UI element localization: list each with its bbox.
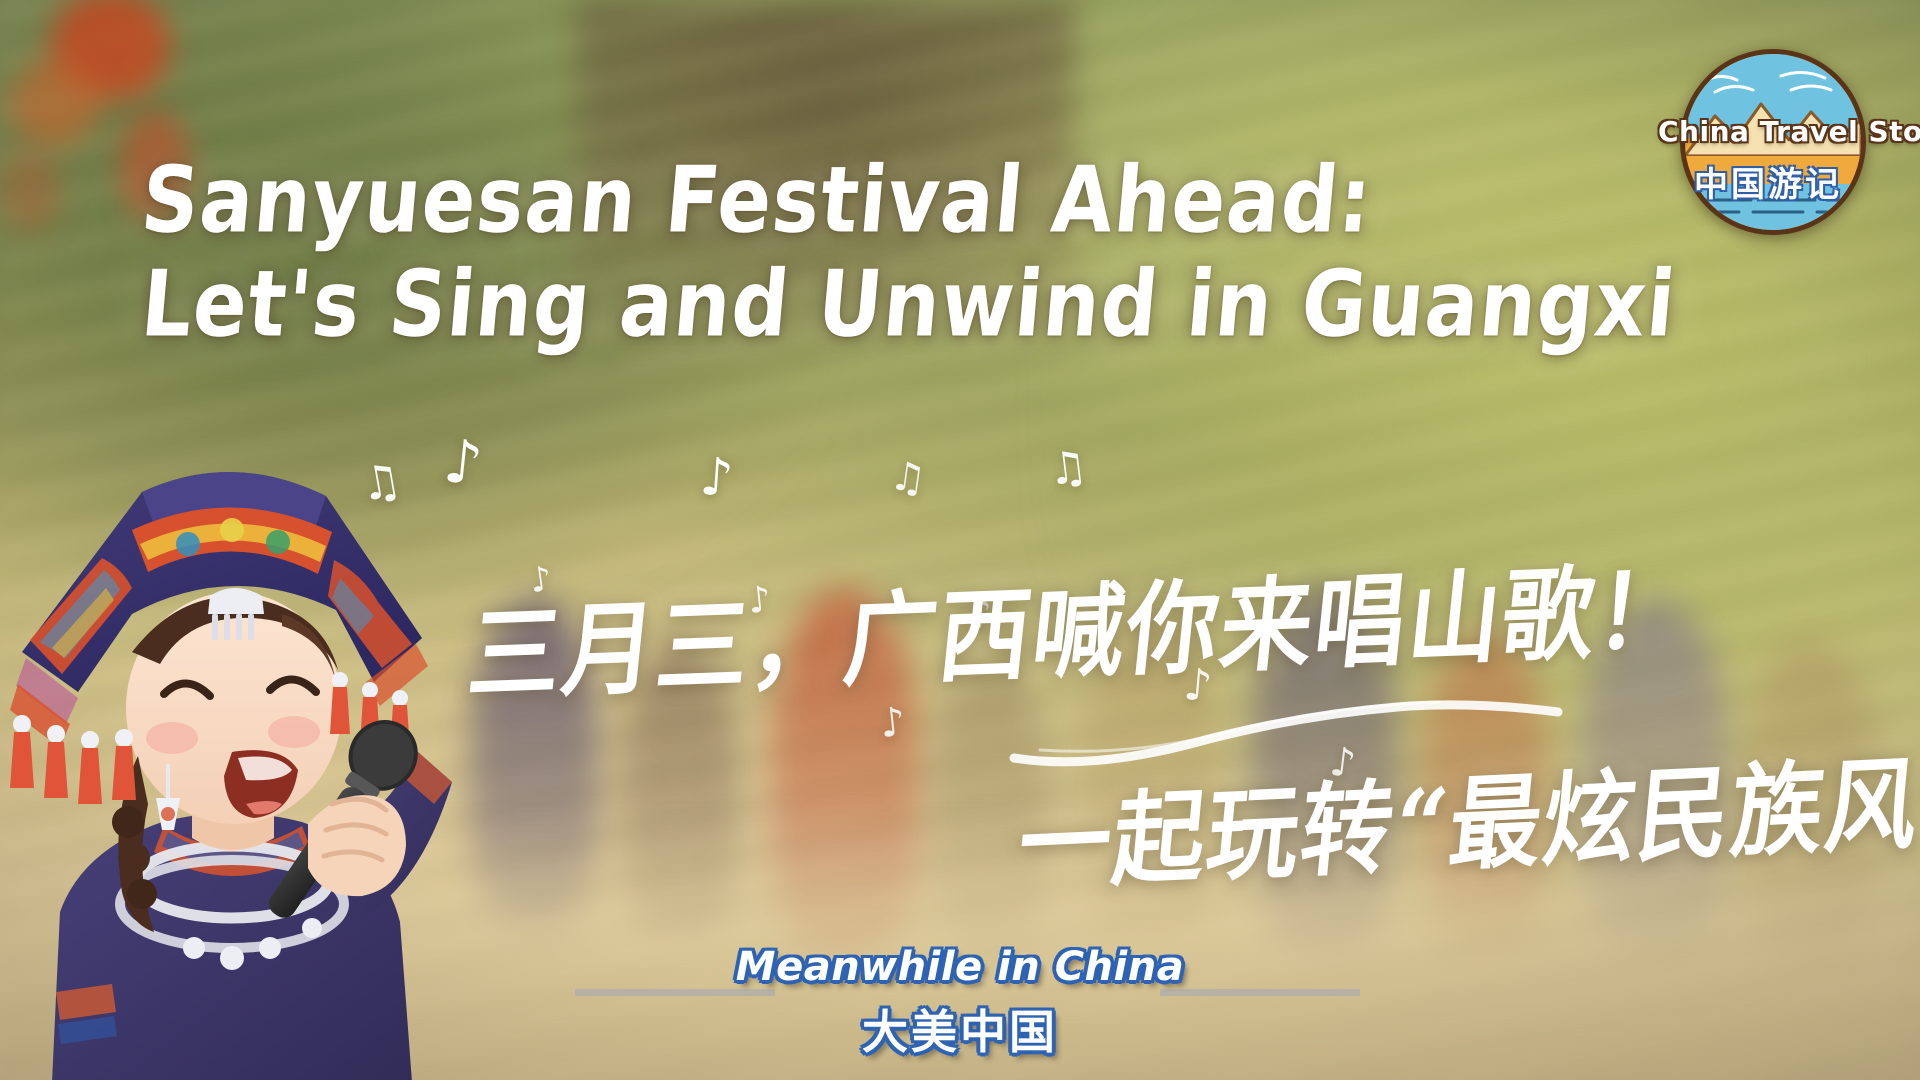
headline-line-2: Let's Sing and Unwind in Guangxi (137, 244, 1648, 365)
headline-line-1: Sanyuesan Festival Ahead: (137, 140, 1648, 261)
music-note-icon: ♫ (887, 453, 929, 504)
brand-name-en: Meanwhile in China (0, 944, 1920, 990)
brand-name-cn: 大美中国 (0, 996, 1920, 1062)
music-note-icon: ♪ (698, 447, 735, 509)
music-note-icon: ♪ (878, 699, 908, 747)
brand-block: Meanwhile in China 大美中国 (0, 944, 1920, 1062)
thumbnail-canvas: ♫♪♪♪♪♫♪♫♪♪♪ Sanyuesan Festival Ahead: Le… (0, 0, 1920, 1080)
logo-name-en: China Travel Story (1658, 115, 1878, 148)
headline-block: Sanyuesan Festival Ahead: Let's Sing and… (142, 148, 1642, 356)
channel-logo[interactable]: China Travel Story 中国游记 (1658, 45, 1878, 230)
music-note-icon: ♫ (356, 452, 406, 512)
logo-name-cn: 中国游记 (1658, 157, 1878, 206)
cloud-icon (1685, 64, 1861, 104)
music-note-icon: ♫ (1045, 441, 1090, 496)
music-note-icon: ♪ (440, 426, 485, 500)
